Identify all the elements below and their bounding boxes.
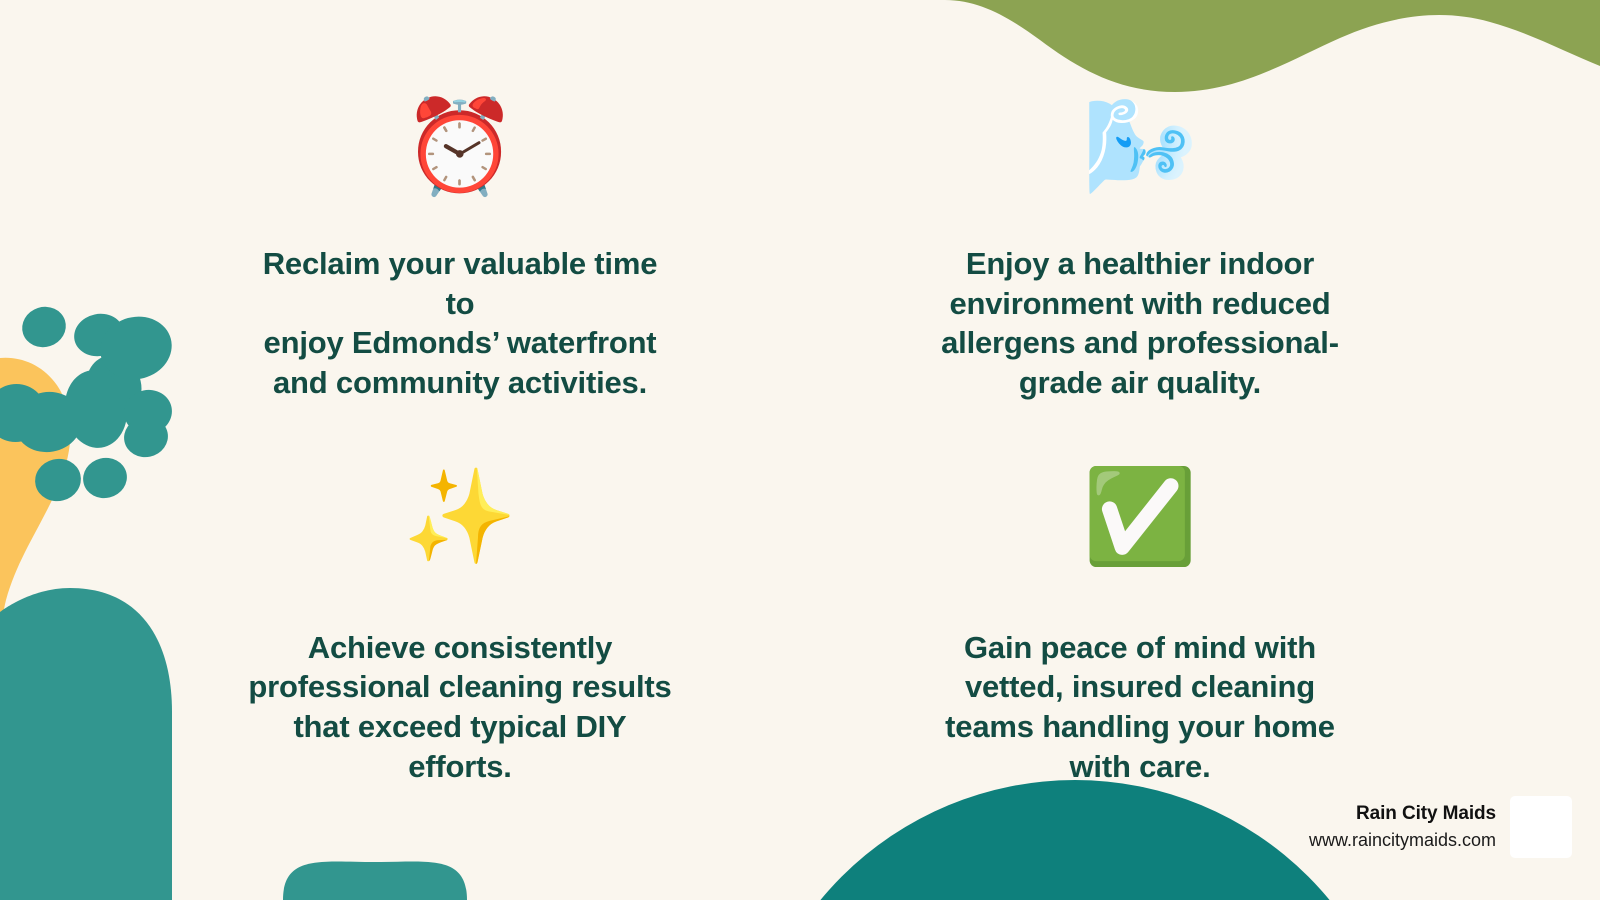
brand-website[interactable]: www.raincitymaids.com [1309, 829, 1496, 852]
brand-name: Rain City Maids [1309, 802, 1496, 826]
benefit-card-3: ✨ Achieve consistently professional clea… [120, 403, 800, 787]
benefit-text-2: Enjoy a healthier indoor environment wit… [941, 244, 1339, 403]
benefit-text-4: Gain peace of mind with vetted, insured … [945, 628, 1335, 787]
check-mark-button-icon: ✅ [1083, 458, 1198, 576]
benefit-card-2: 🌬️ Enjoy a healthier indoor environment … [800, 40, 1480, 403]
benefit-text-3: Achieve consistently professional cleani… [248, 628, 671, 787]
wind-face-icon: 🌬️ [1083, 88, 1198, 206]
benefits-grid: ⏰ Reclaim your valuable time to enjoy Ed… [0, 0, 1600, 900]
brand-text-group: Rain City Maids www.raincitymaids.com [1309, 802, 1496, 851]
alarm-clock-icon: ⏰ [403, 88, 518, 206]
brand-logo [1510, 796, 1572, 858]
benefit-text-1: Reclaim your valuable time to enjoy Edmo… [245, 244, 675, 403]
benefit-card-1: ⏰ Reclaim your valuable time to enjoy Ed… [120, 40, 800, 403]
sparkles-icon: ✨ [403, 458, 518, 576]
benefit-card-4: ✅ Gain peace of mind with vetted, insure… [800, 403, 1480, 787]
slide-canvas: ⏰ Reclaim your valuable time to enjoy Ed… [0, 0, 1600, 900]
brand-footer: Rain City Maids www.raincitymaids.com [1309, 796, 1572, 858]
